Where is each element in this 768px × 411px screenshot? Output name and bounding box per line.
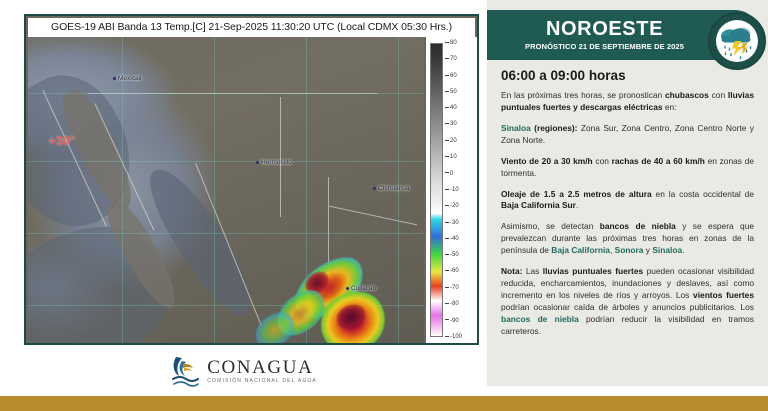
colorbar-tick: -100 — [445, 334, 462, 340]
conagua-logo-name: CONAGUA — [207, 358, 317, 377]
colorbar-tick: -80 — [445, 301, 459, 307]
forecast-paragraph-regions: Sinaloa (regiones): Zona Sur, Zona Centr… — [501, 123, 754, 147]
city-marker-icon — [113, 77, 116, 80]
colorbar-gradient-strip — [430, 43, 443, 337]
colorbar-tick: 70 — [445, 56, 457, 62]
city-marker-icon — [346, 287, 349, 290]
thunderstorm-rain-icon — [708, 12, 766, 70]
forecast-paragraph-wind: Viento de 20 a 30 km/h con rachas de 40 … — [501, 156, 754, 180]
gridline-longitude-2 — [214, 37, 215, 343]
city-label-hermosillo: Hermosillo — [256, 159, 292, 166]
city-marker-icon — [256, 161, 259, 164]
colorbar-tick: -70 — [445, 285, 459, 291]
conagua-logo-tagline: COMISIÓN NACIONAL DEL AGUA — [207, 379, 317, 384]
colorbar-tick: -10 — [445, 187, 459, 193]
forecast-paragraph-precipitation: En las próximas tres horas, se pronostic… — [501, 90, 754, 114]
colorbar-tick: 0 — [445, 171, 453, 177]
colorbar-tick: 10 — [445, 154, 457, 160]
gridline-longitude-1 — [122, 37, 123, 343]
colorbar-tick: -90 — [445, 318, 459, 324]
forecast-paragraph-fog: Asimismo, se detectan bancos de niebla y… — [501, 221, 754, 257]
colorbar-tick-labels: 80 70 60 50 40 30 20 10 0 -10 -20 -30 -4… — [445, 43, 475, 337]
colorbar-tick: -20 — [445, 203, 459, 209]
border-state-diagonal — [329, 206, 417, 226]
temperature-colorbar: 80 70 60 50 40 30 20 10 0 -10 -20 -30 -4… — [426, 37, 477, 343]
forecast-paragraph-note: Nota: Las lluvias puntuales fuertes pued… — [501, 266, 754, 338]
conagua-logo: CONAGUA COMISIÓN NACIONAL DEL AGUA — [0, 346, 487, 396]
border-state-vertical-1 — [280, 97, 281, 217]
colorbar-tick: 20 — [445, 138, 457, 144]
colorbar-tick: -30 — [445, 220, 459, 226]
satellite-map-panel: GOES-19 ABI Banda 13 Temp.[C] 21-Sep-202… — [24, 14, 479, 345]
forecast-header: NOROESTE PRONÓSTICO 21 DE SEPTIEMBRE DE … — [487, 10, 760, 60]
map-title: GOES-19 ABI Banda 13 Temp.[C] 21-Sep-202… — [28, 18, 475, 37]
colorbar-tick: 50 — [445, 89, 457, 95]
colorbar-tick: 40 — [445, 105, 457, 111]
city-label-chihuahua: Chihuahua — [373, 185, 409, 192]
bottom-accent-bar — [0, 396, 768, 411]
colorbar-tick: -40 — [445, 236, 459, 242]
temperature-annotation: +30° — [48, 133, 75, 148]
colorbar-tick: 60 — [445, 73, 457, 79]
gridline-latitude-2 — [28, 161, 424, 162]
colorbar-tick: -50 — [445, 252, 459, 258]
forecast-time-range: 06:00 a 09:00 horas — [501, 68, 754, 83]
gridline-latitude-3 — [28, 233, 424, 234]
city-label-culiacan: Culiacán — [346, 285, 376, 292]
forecast-panel: NOROESTE PRONÓSTICO 21 DE SEPTIEMBRE DE … — [487, 0, 768, 386]
forecast-paragraph-waves: Oleaje de 1.5 a 2.5 metros de altura en … — [501, 189, 754, 213]
colorbar-tick: 80 — [445, 40, 457, 46]
satellite-image: Mexicali Hermosillo Chihuahua Culiacán D… — [28, 37, 424, 343]
colorbar-tick: 30 — [445, 121, 457, 127]
city-label-mexicali: Mexicali — [113, 75, 141, 82]
city-marker-icon — [373, 187, 376, 190]
forecast-body: 06:00 a 09:00 horas En las próximas tres… — [487, 60, 768, 338]
conagua-logo-text: CONAGUA COMISIÓN NACIONAL DEL AGUA — [207, 358, 317, 384]
conagua-emblem-icon — [170, 355, 200, 387]
gridline-latitude-1 — [28, 93, 424, 94]
colorbar-tick: -60 — [445, 268, 459, 274]
